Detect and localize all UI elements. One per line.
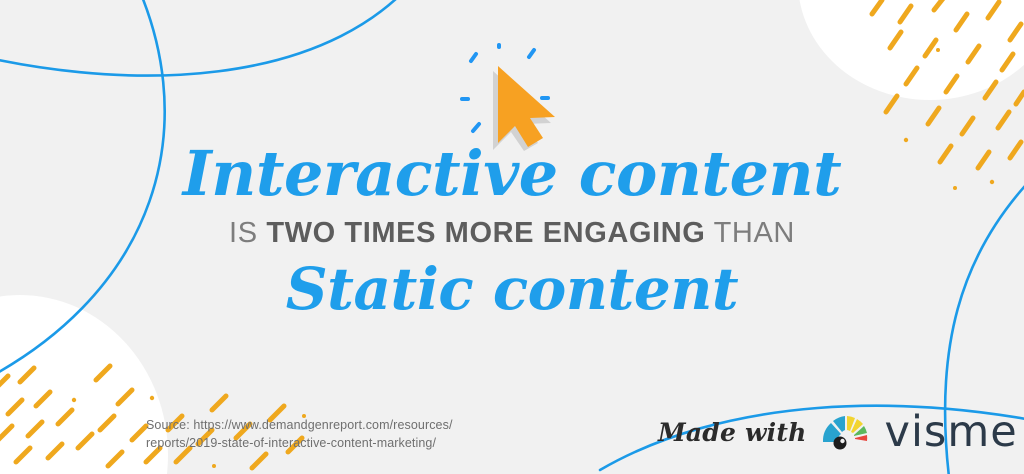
headline-block: Interactive content IS TWO TIMES MORE EN… — [0, 143, 1024, 318]
made-with-label: Made with — [658, 418, 807, 447]
headline-middle-suffix: THAN — [705, 217, 794, 249]
source-citation: Source: https://www.demandgenreport.com/… — [146, 416, 486, 452]
top-right-white-blob — [798, 0, 1024, 100]
headline-middle-prefix: IS — [229, 217, 266, 249]
headline-line-middle: IS TWO TIMES MORE ENGAGING THAN — [0, 219, 1024, 248]
made-with-visme-branding[interactable]: Made with visme — [658, 406, 1018, 458]
mouse-cursor-arrow-icon — [455, 33, 580, 151]
visme-fan-logo-icon — [821, 412, 871, 452]
source-line-1: Source: https://www.demandgenreport.com/… — [146, 416, 486, 434]
headline-line-static: Static content — [0, 260, 1024, 318]
visme-wordmark: visme — [885, 411, 1018, 454]
headline-line-interactive: Interactive content — [0, 143, 1024, 205]
source-line-2: reports/2019-state-of-interactive-conten… — [146, 434, 486, 452]
headline-middle-emphasis: TWO TIMES MORE ENGAGING — [266, 217, 705, 249]
infographic-canvas: Interactive content IS TWO TIMES MORE EN… — [0, 0, 1024, 474]
bottom-left-white-blob — [0, 295, 168, 474]
